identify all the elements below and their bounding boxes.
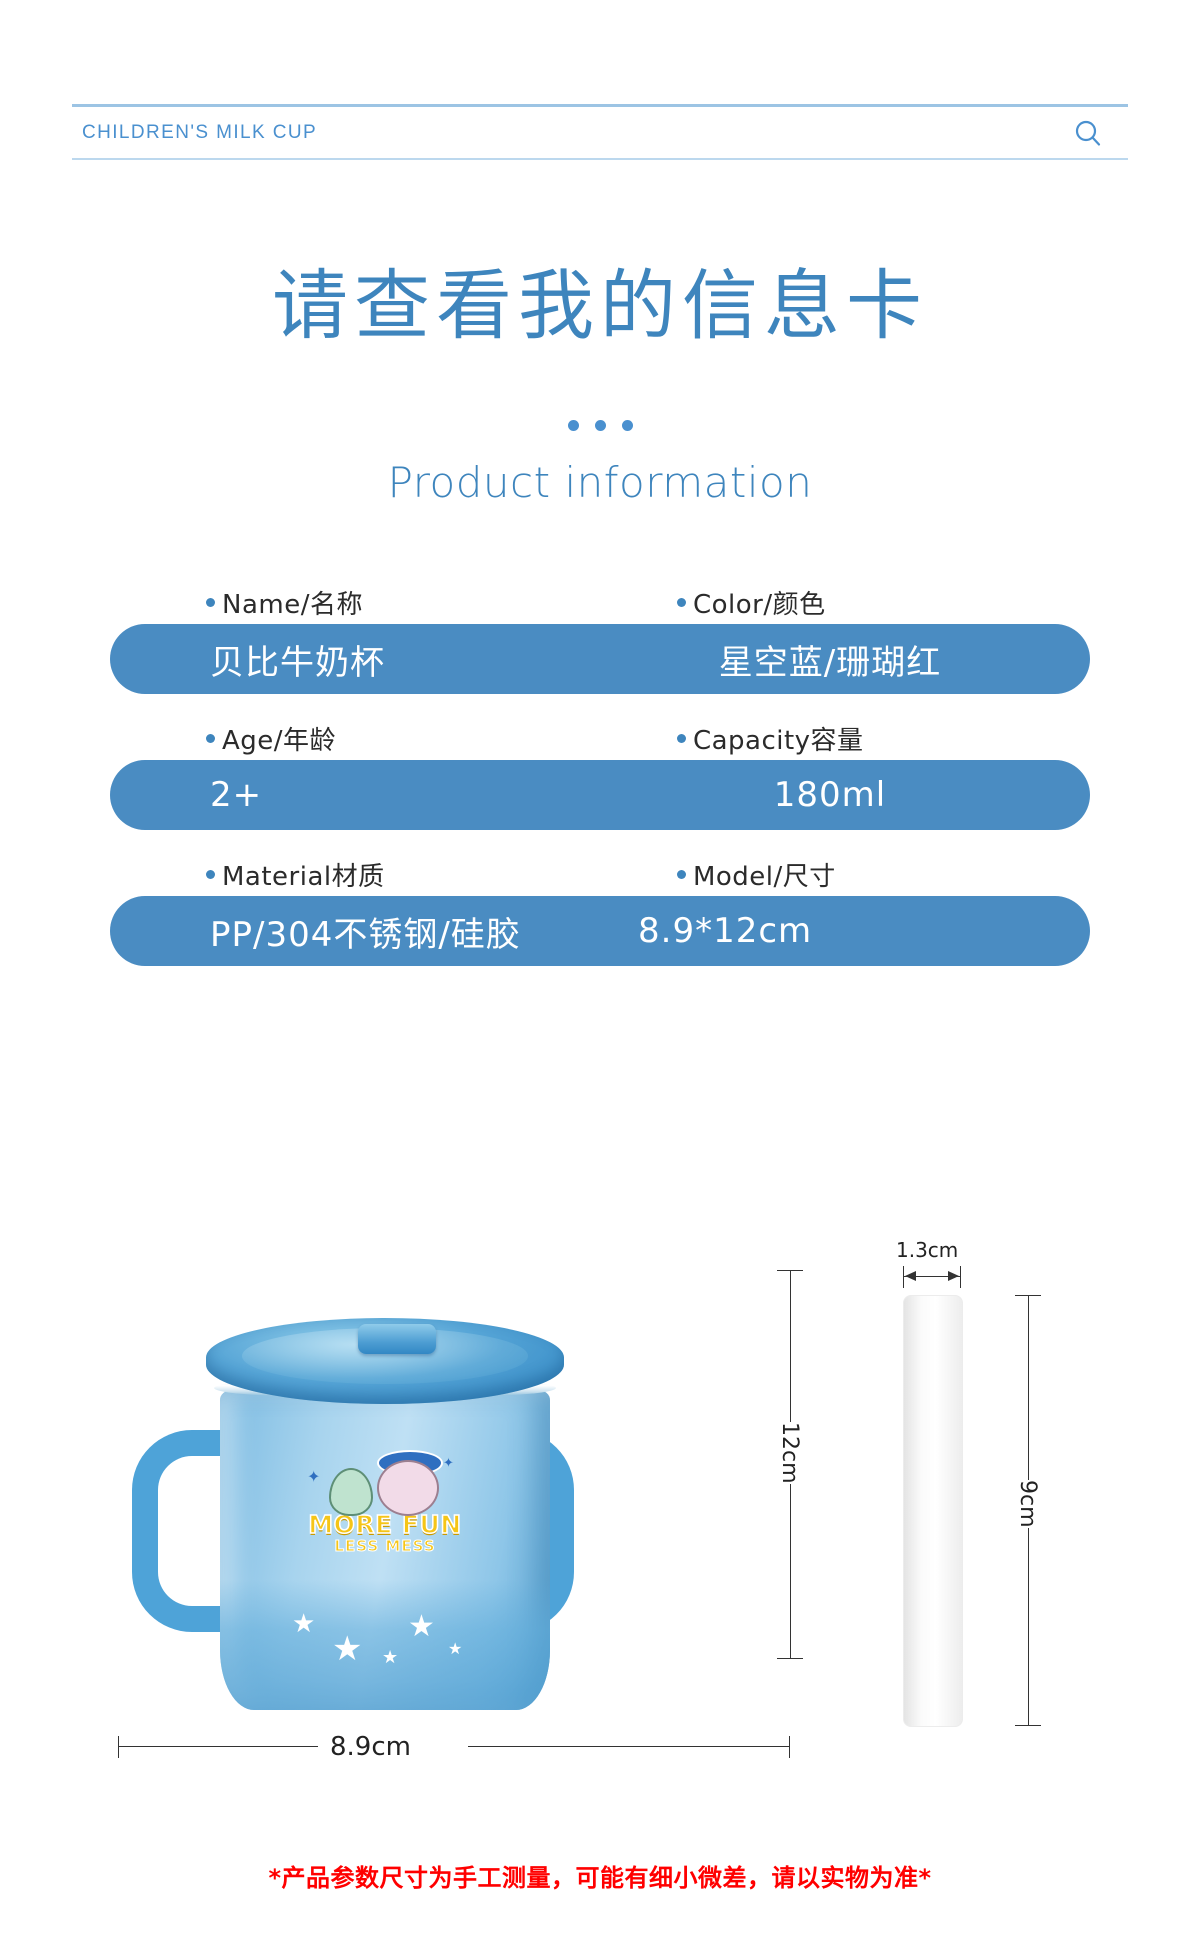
star-decoration: ★	[382, 1648, 398, 1666]
divider-dot	[595, 420, 606, 431]
divider-dot	[568, 420, 579, 431]
spec-label-row: Name/名称 Color/颜色	[110, 580, 1090, 624]
dim-cap-right	[960, 1266, 961, 1288]
dim-cap-bottom	[777, 1658, 803, 1659]
spec-label-text: Color/颜色	[693, 584, 826, 621]
straw-width-label: 1.3cm	[896, 1238, 958, 1262]
star-decoration: ★	[292, 1610, 315, 1636]
cup-height-label: 12cm	[777, 1422, 802, 1484]
spec-value-color: 星空蓝/珊瑚红	[630, 635, 1090, 684]
page-header: CHILDREN'S MILK CUP	[72, 104, 1128, 160]
star-decoration: ★	[448, 1642, 462, 1658]
cup-illustration: ✦ ✦ MORE FUN LESS MESS ★ ★ ★ ★ ★	[110, 1280, 670, 1780]
spec-value-material: PP/304不锈钢/硅胶	[110, 907, 630, 956]
sticker-artwork: ✦ ✦	[285, 1450, 485, 1512]
spec-label-age: Age/年龄	[110, 720, 673, 757]
header-title: CHILDREN'S MILK CUP	[72, 122, 317, 144]
spec-value-capacity: 180ml	[630, 775, 1090, 815]
spec-row-material-model: Material材质 Model/尺寸 PP/304不锈钢/硅胶 8.9*12c…	[110, 852, 1090, 966]
bullet-icon	[206, 734, 215, 743]
search-icon	[1073, 118, 1103, 148]
sparkle-icon: ✦	[307, 1470, 320, 1486]
spec-label-text: Name/名称	[222, 584, 363, 621]
star-decoration: ★	[408, 1612, 435, 1642]
divider-dot	[622, 420, 633, 431]
bullet-icon	[677, 870, 686, 879]
straw-height-label: 9cm	[1015, 1480, 1040, 1528]
dim-horizontal-line-right	[468, 1746, 790, 1747]
search-button[interactable]	[1066, 111, 1110, 155]
bullet-icon	[677, 598, 686, 607]
dim-arrow-right	[948, 1271, 959, 1281]
cup-sticker: ✦ ✦ MORE FUN LESS MESS	[285, 1450, 485, 1565]
disclaimer-text: *产品参数尺寸为手工测量，可能有细小微差，请以实物为准*	[0, 1858, 1200, 1893]
spec-label-text: Material材质	[222, 856, 385, 893]
spec-label-name: Name/名称	[110, 584, 673, 621]
spec-label-text: Capacity容量	[693, 720, 864, 757]
spec-label-model: Model/尺寸	[673, 856, 1090, 893]
spec-label-capacity: Capacity容量	[673, 720, 1090, 757]
spec-value-model: 8.9*12cm	[630, 911, 1090, 951]
product-photo-area: ✦ ✦ MORE FUN LESS MESS ★ ★ ★ ★ ★ 12cm 8.…	[0, 1150, 1200, 1800]
dim-cap-left	[118, 1736, 119, 1758]
alien-pink-icon	[377, 1460, 439, 1516]
spec-label-row: Age/年龄 Capacity容量	[110, 716, 1090, 760]
cup-width-label: 8.9cm	[330, 1732, 411, 1762]
straw-illustration	[903, 1295, 963, 1727]
spec-row-age-capacity: Age/年龄 Capacity容量 2+ 180ml	[110, 716, 1090, 830]
dot-divider	[0, 420, 1200, 431]
spec-table: Name/名称 Color/颜色 贝比牛奶杯 星空蓝/珊瑚红 Age/年龄 Ca…	[110, 580, 1090, 988]
spec-value-age: 2+	[110, 775, 630, 815]
bullet-icon	[206, 870, 215, 879]
spec-label-text: Age/年龄	[222, 720, 336, 757]
dim-cap-bottom	[1015, 1725, 1041, 1726]
spec-value-pill: PP/304不锈钢/硅胶 8.9*12cm	[110, 896, 1090, 966]
alien-green-icon	[329, 1468, 373, 1516]
sticker-more-fun-text: MORE FUN	[285, 1512, 485, 1537]
spec-label-row: Material材质 Model/尺寸	[110, 852, 1090, 896]
spec-value-name: 贝比牛奶杯	[110, 635, 630, 684]
spec-value-pill: 2+ 180ml	[110, 760, 1090, 830]
dim-arrow-left	[905, 1271, 916, 1281]
sticker-less-mess-text: LESS MESS	[285, 1537, 485, 1557]
dim-horizontal-line-left	[118, 1746, 318, 1747]
star-decoration: ★	[332, 1632, 362, 1666]
dim-cap-right	[789, 1736, 790, 1758]
spec-label-material: Material材质	[110, 856, 673, 893]
page-title: 请查看我的信息卡	[0, 268, 1200, 344]
page-subtitle: Product information	[0, 458, 1200, 507]
sparkle-icon: ✦	[443, 1456, 454, 1469]
dim-cap-top	[1015, 1295, 1041, 1296]
cup-lid-tab	[358, 1324, 436, 1354]
bullet-icon	[206, 598, 215, 607]
bullet-icon	[677, 734, 686, 743]
spec-row-name-color: Name/名称 Color/颜色 贝比牛奶杯 星空蓝/珊瑚红	[110, 580, 1090, 694]
spec-label-color: Color/颜色	[673, 584, 1090, 621]
dim-cap-top	[777, 1270, 803, 1271]
spec-label-text: Model/尺寸	[693, 856, 836, 893]
spec-value-pill: 贝比牛奶杯 星空蓝/珊瑚红	[110, 624, 1090, 694]
